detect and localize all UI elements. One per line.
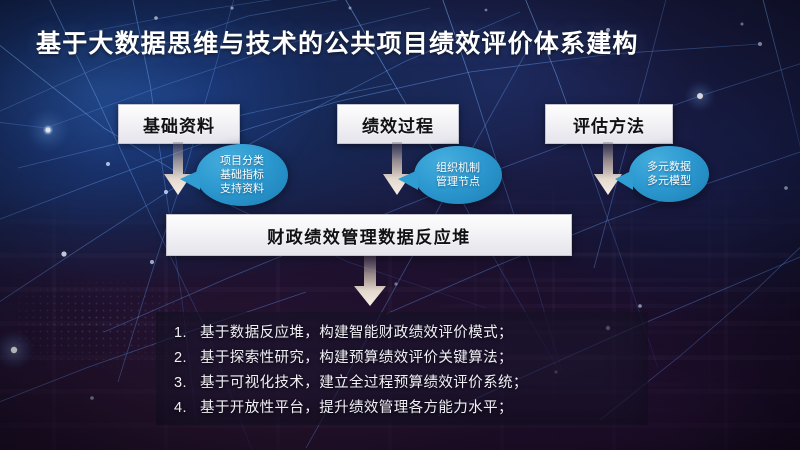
callout-bubble-evaluation-method: 多元数据 多元模型 xyxy=(629,146,709,202)
bubble-line: 支持资料 xyxy=(220,182,264,196)
bubble-line: 组织机制 xyxy=(436,161,480,175)
process-box-label: 基础资料 xyxy=(143,112,215,137)
reactor-bar[interactable]: 财政绩效管理数据反应堆 xyxy=(166,214,572,256)
bubble-line: 项目分类 xyxy=(220,154,264,168)
process-box-label: 评估方法 xyxy=(573,112,645,137)
process-box-basic-data[interactable]: 基础资料 xyxy=(118,104,240,144)
process-box-evaluation-method[interactable]: 评估方法 xyxy=(545,104,673,144)
conclusions-panel: 基于数据反应堆，构建智能财政绩效评价模式； 基于探索性研究，构建预算绩效评价关键… xyxy=(156,312,648,425)
bubble-tail-icon xyxy=(180,170,200,190)
slide-canvas: 基于大数据思维与技术的公共项目绩效评价体系建构 基础资料 项目分类 基础指标 支… xyxy=(0,0,800,450)
page-title: 基于大数据思维与技术的公共项目绩效评价体系建构 xyxy=(36,24,639,60)
callout-bubble-performance-process: 组织机制 管理节点 xyxy=(414,146,502,204)
callout-bubble-basic-data: 项目分类 基础指标 支持资料 xyxy=(196,144,288,206)
bubble-line: 管理节点 xyxy=(436,175,480,189)
list-item: 基于开放性平台，提升绩效管理各方能力水平； xyxy=(200,396,648,421)
bubble-line: 基础指标 xyxy=(220,168,264,182)
process-box-performance-process[interactable]: 绩效过程 xyxy=(337,104,459,144)
list-item: 基于数据反应堆，构建智能财政绩效评价模式； xyxy=(200,321,648,346)
down-arrow-icon xyxy=(353,256,387,308)
process-box-label: 绩效过程 xyxy=(362,112,434,137)
conclusions-list: 基于数据反应堆，构建智能财政绩效评价模式； 基于探索性研究，构建预算绩效评价关键… xyxy=(156,312,648,421)
list-item: 基于探索性研究，构建预算绩效评价关键算法； xyxy=(200,346,648,371)
bubble-tail-icon xyxy=(398,170,418,190)
bubble-line: 多元模型 xyxy=(647,174,691,188)
list-item: 基于可视化技术，建立全过程预算绩效评价系统； xyxy=(200,371,648,396)
bubble-tail-icon xyxy=(615,170,633,190)
bubble-line: 多元数据 xyxy=(647,160,691,174)
reactor-bar-label: 财政绩效管理数据反应堆 xyxy=(267,223,471,248)
